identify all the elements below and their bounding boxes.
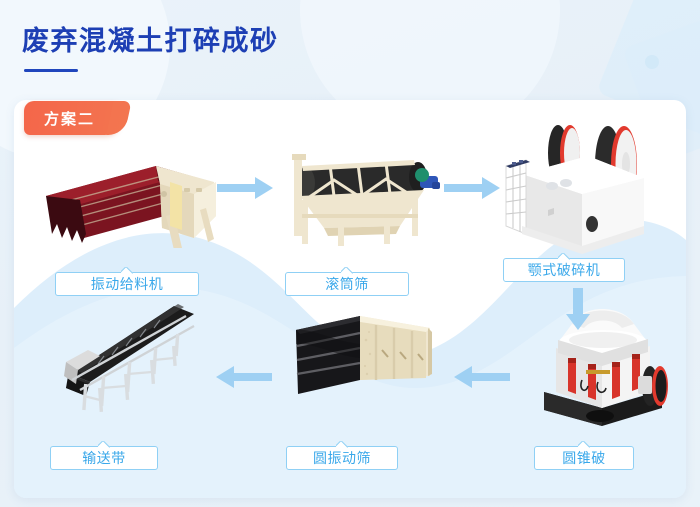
label-notch-icon [98, 441, 110, 448]
label-conveyor-belt[interactable]: 输送带 [50, 446, 158, 470]
plan-badge-label: 方案二 [44, 108, 95, 129]
label-jaw-crusher[interactable]: 颚式破碎机 [503, 258, 625, 282]
label-trommel-screen[interactable]: 滚筒筛 [285, 272, 409, 296]
label-notch-icon [558, 253, 570, 260]
page-header: 废弃混凝土打碎成砂 [0, 0, 700, 98]
equipment-circular-vibrating-screen [290, 306, 450, 406]
arrow-trommel-to-jaw [444, 175, 500, 201]
label-circular-vibrating-screen[interactable]: 圆振动筛 [286, 446, 398, 470]
page-background: 废弃混凝土打碎成砂 [0, 0, 700, 507]
title-underline [24, 69, 78, 72]
label-text: 输送带 [82, 448, 126, 468]
equipment-cone-crusher [526, 296, 676, 432]
page-title: 废弃混凝土打碎成砂 [22, 23, 279, 59]
label-vibrating-feeder[interactable]: 振动给料机 [55, 272, 199, 296]
label-notch-icon [121, 267, 133, 274]
arrow-cone-to-screen [454, 364, 510, 390]
flow-card: 振动给料机 滚筒筛 颚式破碎机 输送带 圆振动筛 圆锥破 [14, 100, 686, 498]
arrow-jaw-to-cone [565, 288, 591, 330]
label-cone-crusher[interactable]: 圆锥破 [534, 446, 634, 470]
label-notch-icon [341, 267, 353, 274]
label-notch-icon [578, 441, 590, 448]
arrow-feeder-to-trommel [217, 175, 273, 201]
equipment-conveyor-belt [54, 304, 204, 414]
label-text: 振动给料机 [91, 274, 164, 294]
equipment-jaw-crusher [496, 116, 661, 256]
plan-badge[interactable]: 方案二 [24, 101, 121, 135]
label-notch-icon [336, 441, 348, 448]
label-text: 颚式破碎机 [528, 260, 601, 280]
arrow-screen-to-belt [216, 364, 272, 390]
equipment-vibrating-feeder [44, 138, 219, 248]
label-text: 滚筒筛 [325, 274, 369, 294]
label-text: 圆锥破 [562, 448, 606, 468]
equipment-trommel-screen [272, 140, 447, 248]
label-text: 圆振动筛 [313, 448, 371, 468]
